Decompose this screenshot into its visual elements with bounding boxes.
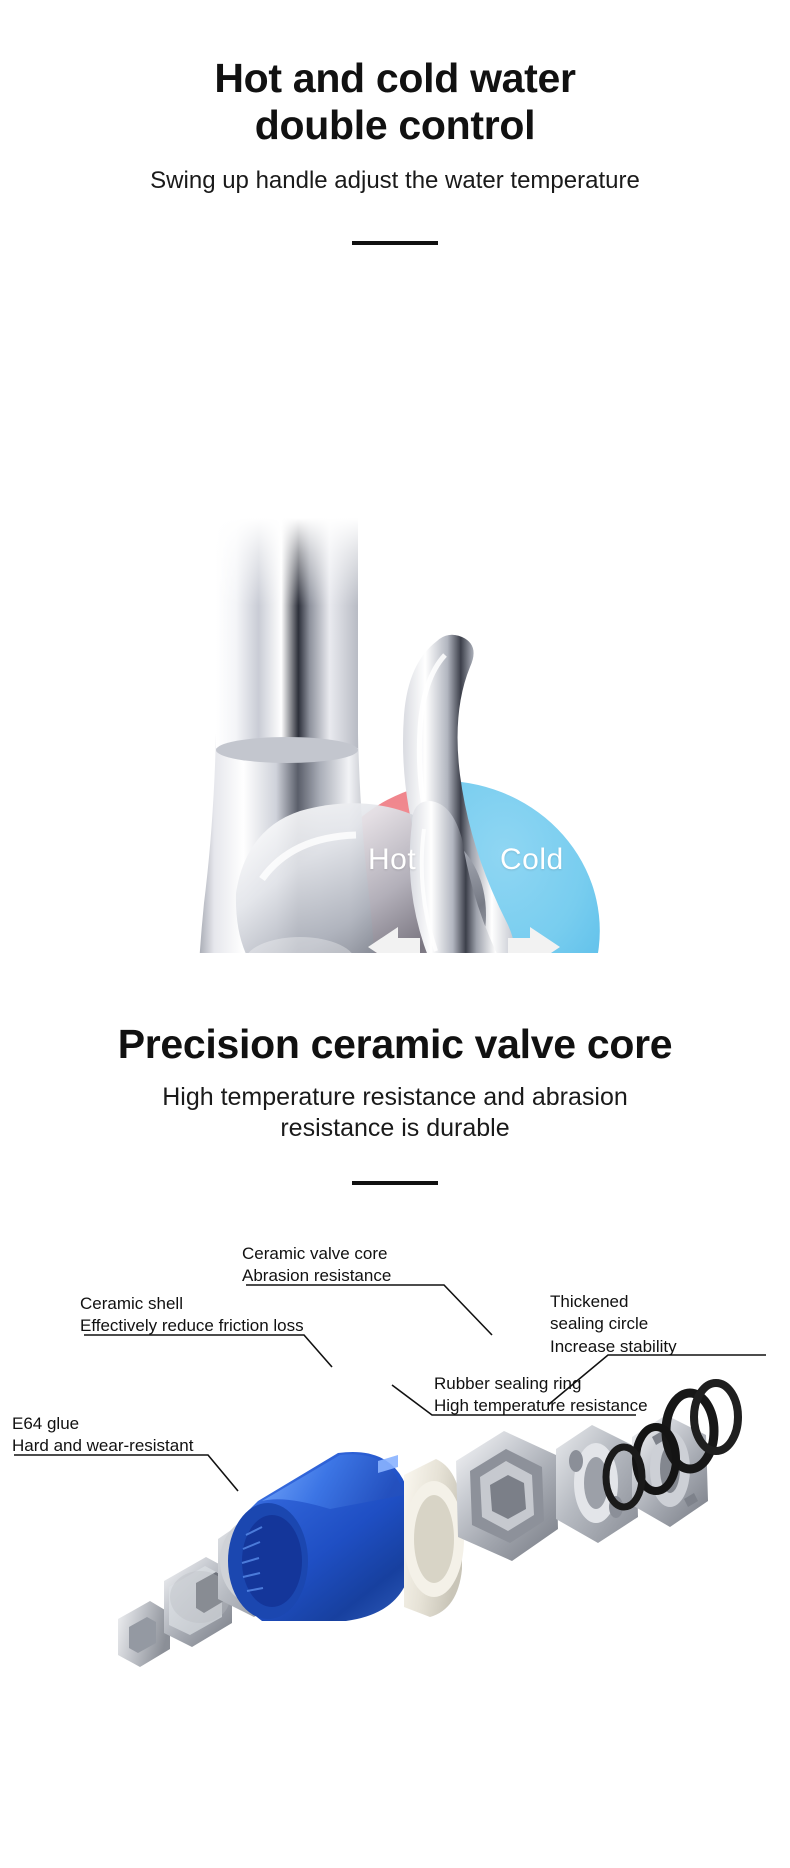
callout-ceramic-shell-line1: Ceramic shell (80, 1293, 304, 1315)
callout-rubber-sealing-ring: Rubber sealing ring High temperature res… (434, 1373, 648, 1418)
callout-ceramic-valve-core-line1: Ceramic valve core (242, 1243, 391, 1265)
hot-label: Hot (368, 843, 416, 877)
callout-thickened-sealing-circle: Thickened sealing circle Increase stabil… (550, 1291, 677, 1358)
part-e64-glue-stem (118, 1557, 232, 1667)
callout-thickened-sealing-circle-line1: Thickened (550, 1291, 677, 1313)
callout-e64-glue-line1: E64 glue (12, 1413, 193, 1435)
callout-rubber-sealing-ring-line2: High temperature resistance (434, 1395, 648, 1417)
section-ceramic-valve-core: Precision ceramic valve core High temper… (0, 953, 790, 1678)
callout-ceramic-shell-line2: Effectively reduce friction loss (80, 1315, 304, 1337)
product-infographic-page: Hot and cold water double control Swing … (0, 0, 790, 1868)
part-perforated-disc (556, 1425, 638, 1543)
section2-header: Precision ceramic valve core High temper… (0, 1021, 790, 1184)
callout-e64-glue: E64 glue Hard and wear-resistant (12, 1413, 193, 1458)
section2-subtitle-line2: resistance is durable (0, 1113, 790, 1144)
callout-thickened-sealing-circle-line3: Increase stability (550, 1336, 677, 1358)
section2-title: Precision ceramic valve core (0, 1021, 790, 1068)
section1-title-line2: double control (0, 102, 790, 149)
section1-divider (352, 241, 438, 245)
section2-subtitle-line1: High temperature resistance and abrasion (0, 1082, 790, 1113)
section2-subtitle: High temperature resistance and abrasion… (0, 1082, 790, 1145)
faucet-spout (216, 518, 358, 763)
callout-rubber-sealing-ring-line1: Rubber sealing ring (434, 1373, 648, 1395)
section-hot-cold-control: Hot and cold water double control Swing … (0, 0, 790, 953)
callout-ceramic-shell: Ceramic shell Effectively reduce frictio… (80, 1293, 304, 1338)
callout-thickened-sealing-circle-line2: sealing circle (550, 1313, 677, 1335)
part-cream-gasket (404, 1459, 464, 1617)
section1-title-line1: Hot and cold water (0, 55, 790, 102)
valve-core-illustration: Ceramic valve core Abrasion resistance C… (0, 1209, 790, 1679)
cold-label: Cold (500, 843, 564, 877)
callout-ceramic-valve-core: Ceramic valve core Abrasion resistance (242, 1243, 391, 1288)
section1-subtitle: Swing up handle adjust the water tempera… (0, 166, 790, 196)
callout-ceramic-valve-core-line2: Abrasion resistance (242, 1265, 391, 1287)
section2-divider (352, 1181, 438, 1185)
callout-e64-glue-line2: Hard and wear-resistant (12, 1435, 193, 1457)
section1-header: Hot and cold water double control Swing … (0, 55, 790, 245)
part-metal-cap (456, 1431, 558, 1561)
section1-title: Hot and cold water double control (0, 55, 790, 148)
part-ceramic-shell (228, 1452, 412, 1621)
faucet-illustration: Hot Cold (0, 263, 790, 953)
